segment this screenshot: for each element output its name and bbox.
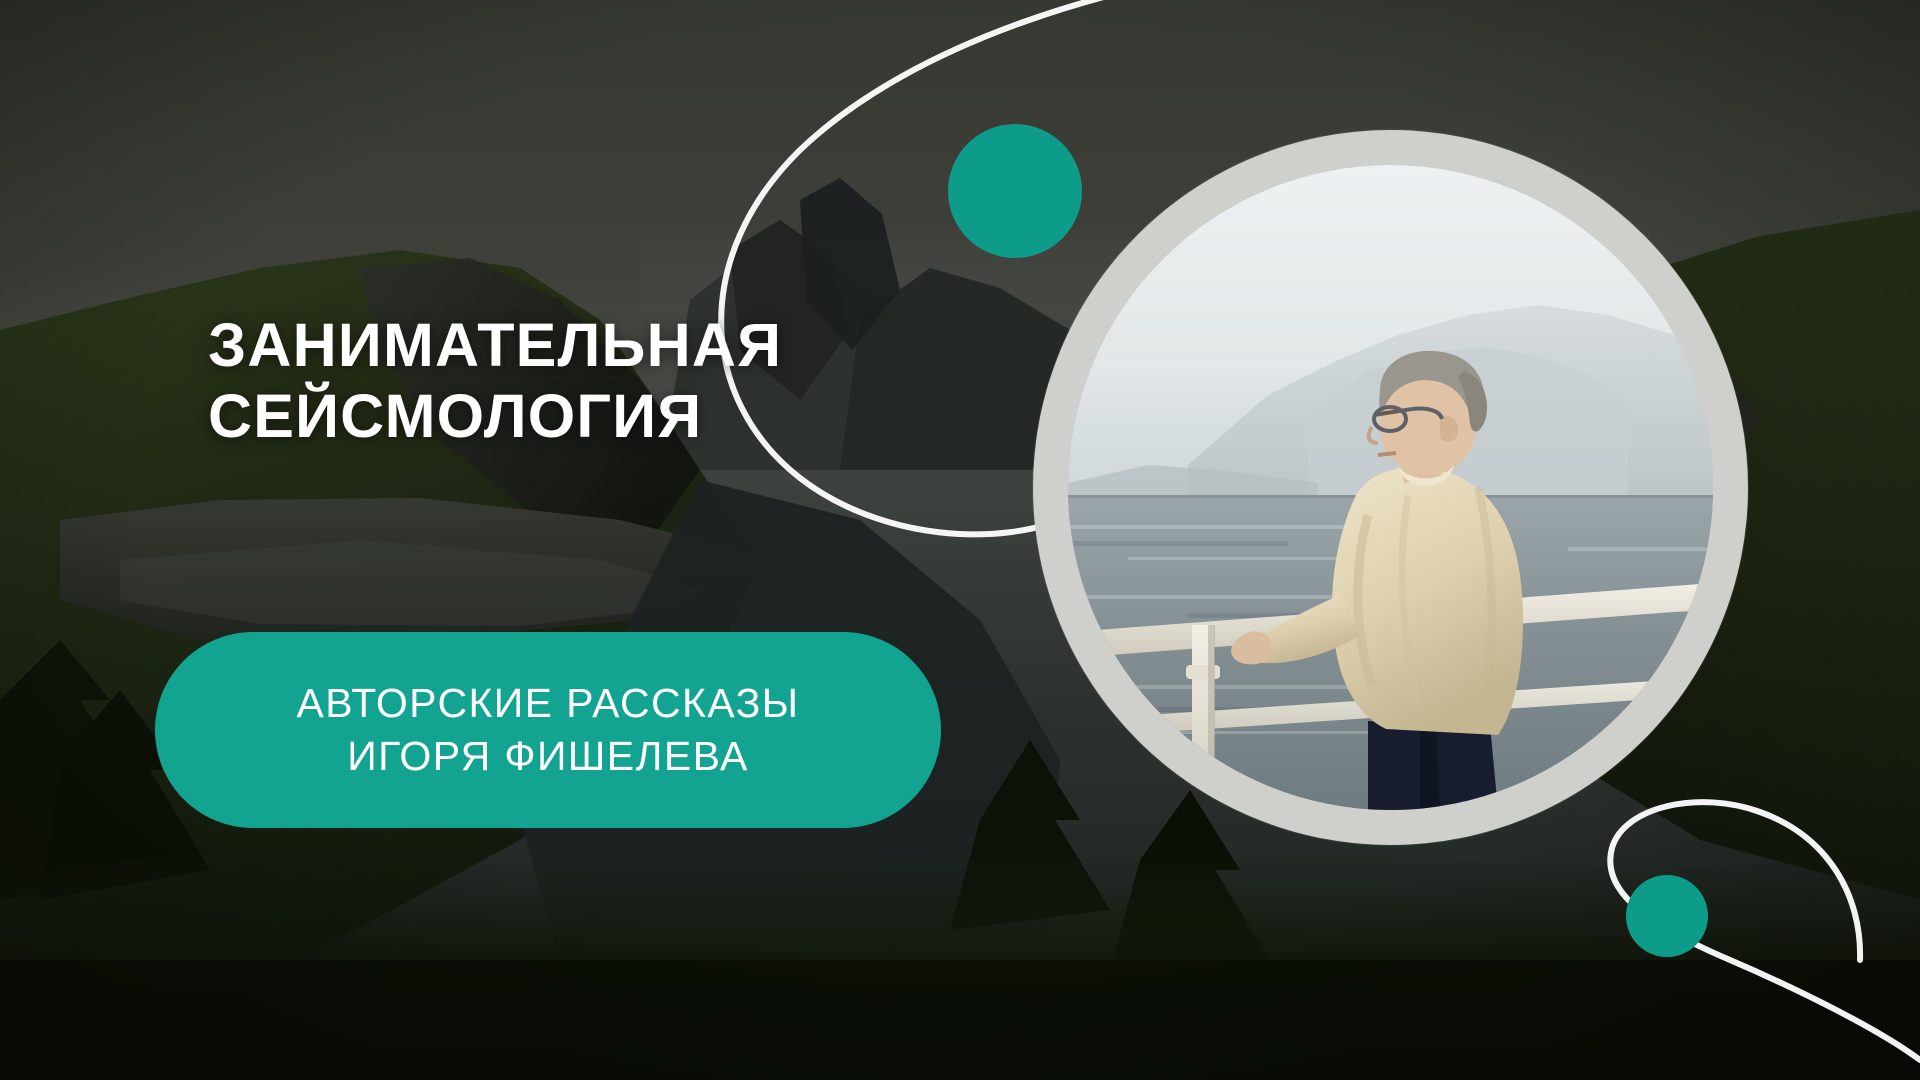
badge-line-2: ИГОРЯ ФИШЕЛЕВА: [347, 730, 748, 783]
title-line-2: СЕЙСМОЛОГИЯ: [208, 381, 968, 452]
page-title: ЗАНИМАТЕЛЬНАЯ СЕЙСМОЛОГИЯ: [208, 310, 968, 453]
teal-dot-top: [948, 124, 1082, 258]
portrait-photo: [1068, 165, 1713, 810]
title-line-1: ЗАНИМАТЕЛЬНАЯ: [208, 311, 782, 379]
portrait-ring: [1033, 130, 1748, 845]
slide-canvas: ЗАНИМАТЕЛЬНАЯ СЕЙСМОЛОГИЯ АВТОРСКИЕ РАСС…: [0, 0, 1920, 1080]
subtitle-badge: АВТОРСКИЕ РАССКАЗЫ ИГОРЯ ФИШЕЛЕВА: [155, 632, 941, 828]
teal-dot-bottom: [1626, 875, 1708, 957]
badge-line-1: АВТОРСКИЕ РАССКАЗЫ: [297, 677, 800, 730]
